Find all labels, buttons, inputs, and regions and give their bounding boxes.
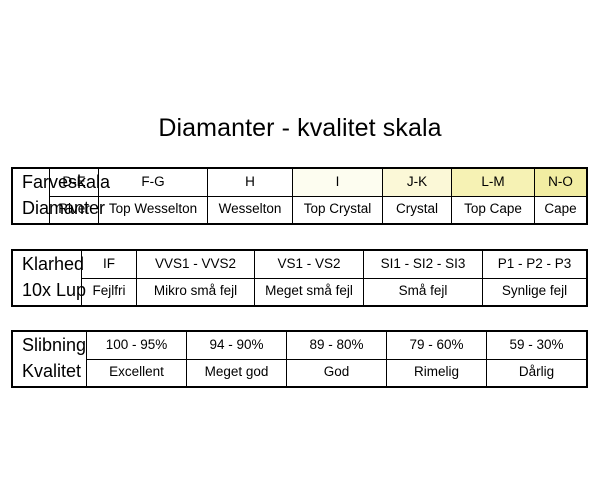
clarity-scale-body: Klarhed IFVVS1 - VVS2VS1 - VS2SI1 - SI2 … bbox=[12, 250, 587, 306]
clarity-scale-grade-cell: SI1 - SI2 - SI3 bbox=[364, 250, 483, 278]
clarity-scale-name-cell: Små fejl bbox=[364, 278, 483, 306]
colour-scale-row-label-top: Farveskala bbox=[12, 168, 50, 196]
cut-scale-name-cell: God bbox=[287, 359, 387, 387]
colour-scale-grade-cell: N-O bbox=[535, 168, 588, 196]
clarity-grade-row: Klarhed IFVVS1 - VVS2VS1 - VS2SI1 - SI2 … bbox=[12, 250, 587, 278]
cut-scale-name-cell: Excellent bbox=[87, 359, 187, 387]
colour-scale-row-label-bottom: Diamanter bbox=[12, 196, 50, 224]
colour-scale-grade-cell: F-G bbox=[99, 168, 208, 196]
colour-scale-grade-cell: I bbox=[293, 168, 383, 196]
cut-scale-grade-cell: 79 - 60% bbox=[387, 331, 487, 359]
clarity-scale-name-cell: Fejlfri bbox=[82, 278, 137, 306]
colour-scale-grade-cell: J-K bbox=[383, 168, 452, 196]
colour-grade-row: Farveskala D-EF-GHIJ-KL-MN-O bbox=[12, 168, 587, 196]
colour-scale-name-cell: Top Cape bbox=[452, 196, 535, 224]
cut-scale-grade-cell: 89 - 80% bbox=[287, 331, 387, 359]
page-title: Diamanter - kvalitet skala bbox=[0, 114, 600, 143]
clarity-scale-grade-cell: P1 - P2 - P3 bbox=[483, 250, 588, 278]
colour-scale-name-cell: Crystal bbox=[383, 196, 452, 224]
cut-scale-row-label-bottom: Kvalitet bbox=[12, 359, 87, 387]
clarity-scale-row-label-top: Klarhed bbox=[12, 250, 82, 278]
cut-scale-table: Slibning 100 - 95%94 - 90%89 - 80%79 - 6… bbox=[11, 330, 588, 388]
clarity-scale-row-label-bottom: 10x Lup bbox=[12, 278, 82, 306]
cut-scale-row-label-top: Slibning bbox=[12, 331, 87, 359]
cut-grade-row: Slibning 100 - 95%94 - 90%89 - 80%79 - 6… bbox=[12, 331, 587, 359]
colour-scale-name-cell: Wesselton bbox=[208, 196, 293, 224]
colour-scale-name-cell: Cape bbox=[535, 196, 588, 224]
cut-scale-name-cell: Dårlig bbox=[487, 359, 588, 387]
clarity-scale-name-cell: Meget små fejl bbox=[255, 278, 364, 306]
cut-name-row: Kvalitet ExcellentMeget godGodRimeligDår… bbox=[12, 359, 587, 387]
clarity-scale-name-cell: Mikro små fejl bbox=[137, 278, 255, 306]
colour-scale-name-cell: Top Crystal bbox=[293, 196, 383, 224]
cut-scale-body: Slibning 100 - 95%94 - 90%89 - 80%79 - 6… bbox=[12, 331, 587, 387]
clarity-scale-grade-cell: VS1 - VS2 bbox=[255, 250, 364, 278]
colour-scale-grade-cell: H bbox=[208, 168, 293, 196]
clarity-name-row: 10x Lup FejlfriMikro små fejlMeget små f… bbox=[12, 278, 587, 306]
clarity-scale-grade-cell: IF bbox=[82, 250, 137, 278]
cut-scale-grade-cell: 94 - 90% bbox=[187, 331, 287, 359]
diamond-quality-scale-page: Diamanter - kvalitet skala Farveskala D-… bbox=[0, 0, 600, 500]
colour-scale-body: Farveskala D-EF-GHIJ-KL-MN-O Diamanter R… bbox=[12, 168, 587, 224]
colour-scale-grade-cell: L-M bbox=[452, 168, 535, 196]
clarity-scale-table: Klarhed IFVVS1 - VVS2VS1 - VS2SI1 - SI2 … bbox=[11, 249, 588, 307]
cut-scale-name-cell: Meget god bbox=[187, 359, 287, 387]
cut-scale-grade-cell: 100 - 95% bbox=[87, 331, 187, 359]
colour-scale-name-cell: Top Wesselton bbox=[99, 196, 208, 224]
cut-scale-name-cell: Rimelig bbox=[387, 359, 487, 387]
colour-scale-table: Farveskala D-EF-GHIJ-KL-MN-O Diamanter R… bbox=[11, 167, 588, 225]
clarity-scale-name-cell: Synlige fejl bbox=[483, 278, 588, 306]
cut-scale-grade-cell: 59 - 30% bbox=[487, 331, 588, 359]
clarity-scale-grade-cell: VVS1 - VVS2 bbox=[137, 250, 255, 278]
colour-name-row: Diamanter RiverTop WesseltonWesseltonTop… bbox=[12, 196, 587, 224]
